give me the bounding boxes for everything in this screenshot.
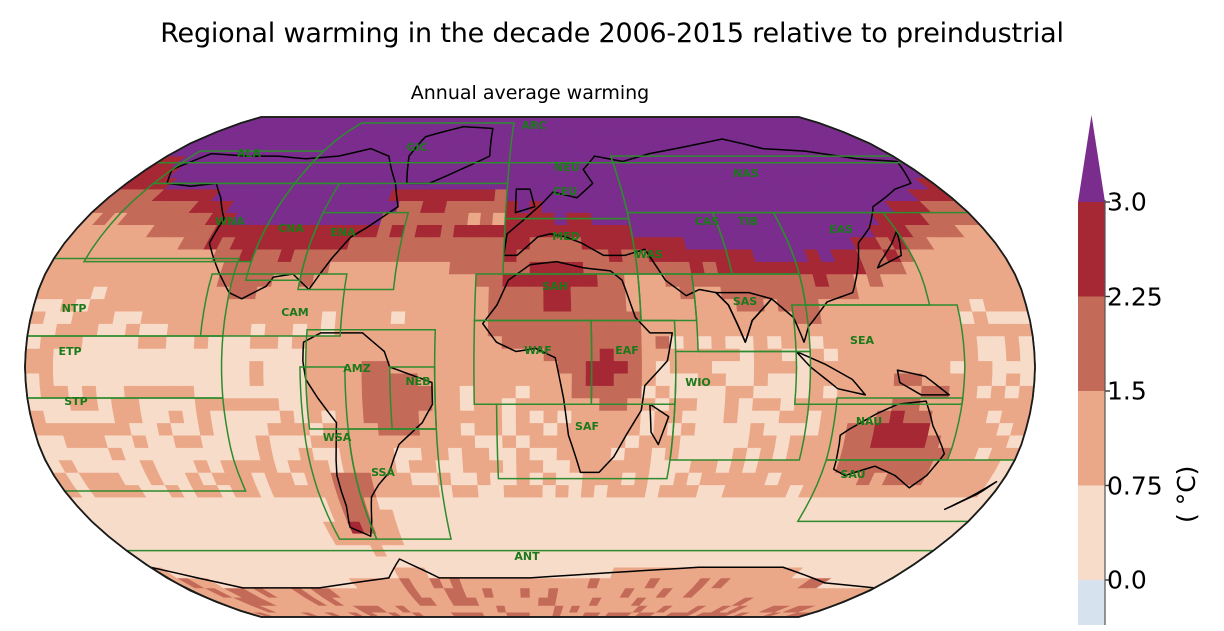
colorbar-tick-1p5: 1.5 <box>1107 377 1147 406</box>
world-map: ARCGICALANEUCEUNASWNACNAENACASTIBEASMEDW… <box>0 105 1060 625</box>
region-label-cna: CNA <box>278 222 304 235</box>
region-label-nau: NAU <box>856 415 882 428</box>
panel-subtitle: Annual average warming <box>0 82 1060 104</box>
region-label-wsa: WSA <box>323 431 352 444</box>
colorbar-tick-0p75: 0.75 <box>1107 471 1163 500</box>
region-label-ssa: SSA <box>371 466 395 479</box>
region-label-wna: WNA <box>215 215 245 228</box>
region-label-neb: NEB <box>405 375 430 388</box>
region-label-ant: ANT <box>514 550 540 563</box>
region-label-ala: ALA <box>237 147 262 160</box>
region-label-ceu: CEU <box>553 185 578 198</box>
region-label-was: WAS <box>635 248 663 261</box>
region-label-nas: NAS <box>733 167 759 180</box>
region-label-ena: ENA <box>330 226 356 239</box>
figure-title: Regional warming in the decade 2006-2015… <box>0 18 1224 49</box>
colorbar-tick-0p0: 0.0 <box>1107 566 1147 595</box>
figure-root: Regional warming in the decade 2006-2015… <box>0 0 1224 631</box>
region-label-cam: CAM <box>281 306 309 319</box>
region-label-eas: EAS <box>829 223 853 236</box>
region-label-amz: AMZ <box>343 362 370 375</box>
colorbar-tick-2p25: 2.25 <box>1107 282 1163 311</box>
region-label-tib: TIB <box>738 215 758 228</box>
region-label-waf: WAF <box>524 344 552 357</box>
region-label-sah: SAH <box>542 280 568 293</box>
region-label-saf: SAF <box>575 420 599 433</box>
region-label-etp: ETP <box>58 345 81 358</box>
colorbar-panel[interactable]: 3.02.251.50.750.0 ( °C) <box>1060 105 1224 625</box>
region-label-sau: SAU <box>840 468 865 481</box>
region-label-arc: ARC <box>521 119 546 132</box>
colorbar-tick-3p0: 3.0 <box>1107 188 1147 217</box>
region-label-ntp: NTP <box>62 302 87 315</box>
region-label-wio: WIO <box>685 376 711 389</box>
region-label-cas: CAS <box>695 215 720 228</box>
region-label-sas: SAS <box>733 295 757 308</box>
region-label-sea: SEA <box>850 334 874 347</box>
region-label-gic: GIC <box>406 141 427 154</box>
map-panel: ARCGICALANEUCEUNASWNACNAENACASTIBEASMEDW… <box>0 105 1060 625</box>
colorbar-bands <box>1078 115 1105 625</box>
region-label-med: MED <box>552 230 580 243</box>
colorbar-unit-label: ( °C) <box>1172 466 1201 523</box>
colorbar[interactable] <box>1060 105 1120 625</box>
region-label-neu: NEU <box>554 161 580 174</box>
region-label-stp: STP <box>64 395 88 408</box>
region-label-eaf: EAF <box>615 344 639 357</box>
